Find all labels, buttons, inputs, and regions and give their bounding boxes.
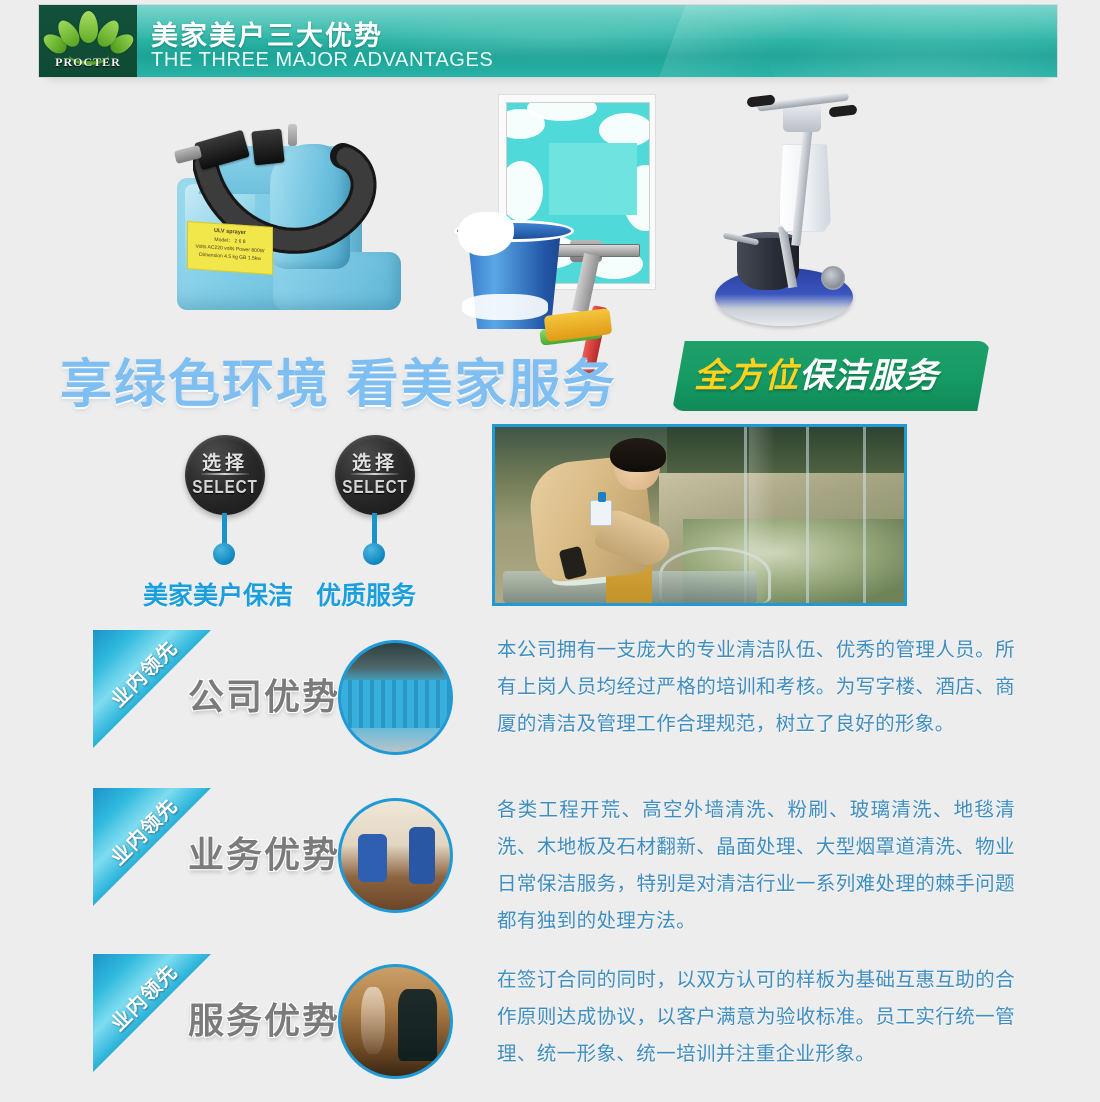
bucket-foam-bottom bbox=[462, 294, 548, 320]
advantage-row-business: 业内领先 业务优势 各类工程开荒、高空外墙清洗、粉刷、玻璃清洗、地毯清洗、木地板… bbox=[0, 786, 1100, 936]
advantage-photo-2 bbox=[338, 798, 453, 913]
window-mullion bbox=[806, 427, 809, 603]
foam-streak bbox=[506, 161, 543, 221]
advantage-photo-1 bbox=[338, 640, 453, 755]
select-pin-dot-2 bbox=[363, 543, 385, 565]
page-header: PROCTER 美家美户三大优势 THE THREE MAJOR ADVANTA… bbox=[38, 4, 1058, 80]
header-diagonal-highlight bbox=[645, 4, 922, 78]
leaf-icon-center bbox=[79, 11, 98, 43]
select-badge-2-en: SELECT bbox=[341, 477, 409, 498]
brand-logo: PROCTER bbox=[39, 5, 137, 78]
sprayer-label-line-1: ULV sprayer bbox=[214, 228, 246, 236]
product-image-window-cleaning bbox=[440, 94, 690, 334]
product-image-ulv-sprayer: ULV sprayer Model： 2 6 8 Volts AC220 vol… bbox=[155, 100, 475, 330]
select-badge-2[interactable]: 选择 SELECT bbox=[335, 435, 415, 515]
promo-page: PROCTER 美家美户三大优势 THE THREE MAJOR ADVANTA… bbox=[0, 0, 1100, 1096]
header-title-cn: 美家美户三大优势 bbox=[151, 14, 383, 53]
select-pin-stem-1 bbox=[222, 513, 227, 545]
hero-photo bbox=[492, 424, 907, 606]
advantage-photo-3 bbox=[338, 964, 453, 1079]
sprayer-knob bbox=[288, 124, 297, 146]
select-pin-dot-1 bbox=[213, 543, 235, 565]
advantage-text-2: 各类工程开荒、高空外墙清洗、粉刷、玻璃清洗、地毯清洗、木地板及石材翻新、晶面处理… bbox=[497, 792, 1015, 940]
foam-streak bbox=[599, 113, 650, 147]
service-banner-rest: 保洁服务 bbox=[799, 357, 939, 395]
polisher-grip-right bbox=[828, 104, 857, 117]
sprayer-label-line-2: Model： 2 6 8 bbox=[214, 237, 245, 245]
header-title-en: THE THREE MAJOR ADVANTAGES bbox=[151, 49, 493, 72]
advantage-title-3: 服务优势 bbox=[188, 992, 340, 1044]
select-badge-2-cn: 选择 bbox=[335, 448, 415, 475]
select-badge-1-cn: 选择 bbox=[185, 448, 265, 475]
product-image-floor-polisher bbox=[705, 90, 945, 340]
service-banner-highlight: 全方位 bbox=[694, 357, 799, 395]
window-clean-area bbox=[549, 143, 637, 215]
select-label-2: 优质服务 bbox=[316, 576, 416, 612]
service-banner-text: 全方位保洁服务 bbox=[694, 352, 984, 402]
sprayer-clamp-right bbox=[251, 129, 284, 166]
advantage-title-1: 公司优势 bbox=[188, 668, 340, 720]
header-bar: PROCTER 美家美户三大优势 THE THREE MAJOR ADVANTA… bbox=[38, 4, 1058, 78]
advantage-title-2: 业务优势 bbox=[188, 826, 340, 878]
hero-photo-cleaner bbox=[528, 438, 692, 603]
select-badge-1-en: SELECT bbox=[191, 477, 259, 498]
advantage-row-service: 业内领先 服务优势 在签订合同的同时，以双方认可的样板为基础互惠互助的合作原则达… bbox=[0, 952, 1100, 1102]
select-pin-stem-2 bbox=[372, 513, 377, 545]
sponge-top bbox=[544, 308, 613, 342]
sprayer-spec-label: ULV sprayer Model： 2 6 8 Volts AC220 vol… bbox=[187, 221, 273, 275]
cleaner-id-badge bbox=[590, 500, 612, 526]
cleaner-hair bbox=[610, 438, 666, 472]
polisher-wheel bbox=[821, 266, 845, 290]
advantage-text-3: 在签订合同的同时，以双方认可的样板为基础互惠互助的合作原则达成协议，以客户满意为… bbox=[497, 962, 1015, 1073]
select-badge-2-divider bbox=[351, 473, 399, 475]
hero-title: 享绿色环境 看美家服务 bbox=[60, 342, 616, 417]
window-mullion bbox=[863, 427, 866, 603]
select-badge-1[interactable]: 选择 SELECT bbox=[185, 435, 265, 515]
select-badge-1-divider bbox=[201, 473, 249, 475]
brand-logo-text: PROCTER bbox=[39, 55, 137, 70]
select-label-1: 美家美户保洁 bbox=[143, 576, 293, 612]
advantage-row-company: 业内领先 公司优势 本公司拥有一支庞大的专业清洁队伍、优秀的管理人员。所有上岗人… bbox=[0, 628, 1100, 778]
advantage-text-1: 本公司拥有一支庞大的专业清洁队伍、优秀的管理人员。所有上岗人员均经过严格的培训和… bbox=[497, 632, 1015, 743]
